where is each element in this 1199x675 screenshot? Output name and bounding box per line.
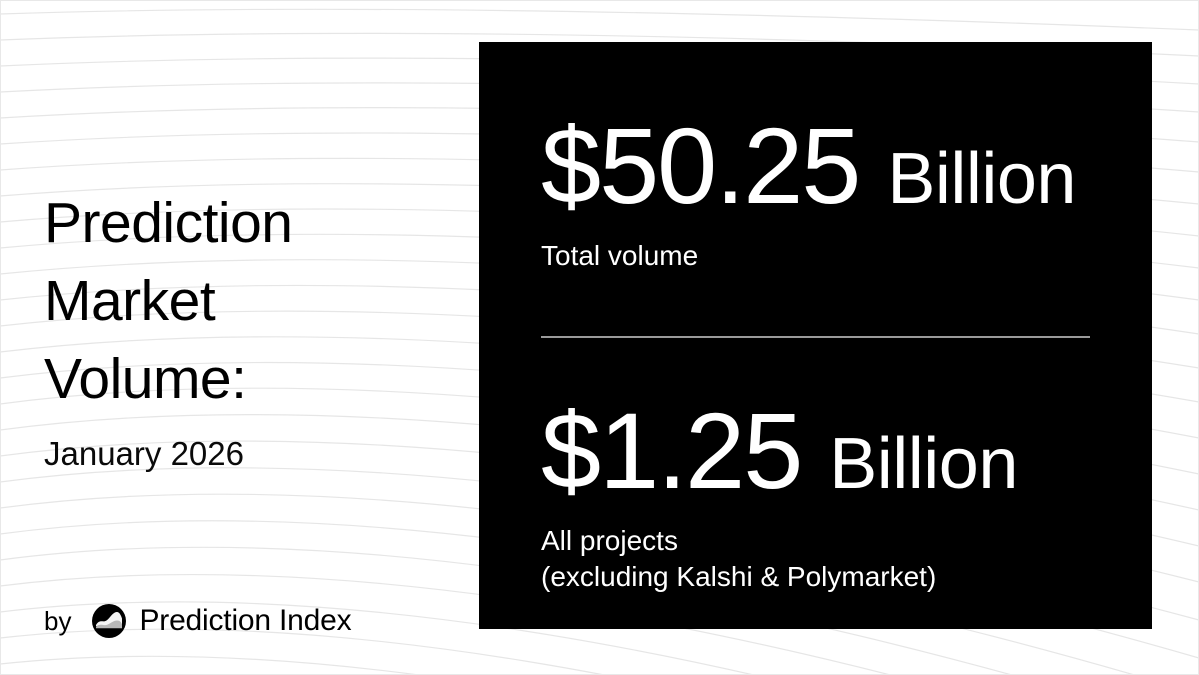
stat-value-row: $50.25 Billion [541, 112, 1090, 220]
page-subtitle: January 2026 [44, 418, 464, 474]
brand-by-label: by [44, 608, 71, 634]
infographic-canvas: Prediction Market Volume: January 2026 b… [0, 0, 1199, 675]
stats-divider [541, 336, 1090, 338]
title-column: Prediction Market Volume: January 2026 [44, 184, 464, 474]
stat-caption-all-projects: All projects (excluding Kalshi & Polymar… [541, 505, 1090, 595]
stat-unit-total-volume: Billion [887, 143, 1076, 215]
stat-value-row: $1.25 Billion [541, 397, 1090, 505]
stats-panel: $50.25 Billion Total volume $1.25 Billio… [479, 42, 1152, 629]
brand-name-label: Prediction Index [139, 606, 351, 636]
brand-lockup: by Prediction Index [44, 600, 351, 642]
stat-caption-total-volume: Total volume [541, 220, 1090, 274]
stat-unit-all-projects: Billion [829, 428, 1018, 500]
stat-amount-total-volume: $50.25 [541, 112, 859, 220]
page-title: Prediction Market Volume: [44, 184, 464, 418]
stat-block-total-volume: $50.25 Billion Total volume [541, 112, 1090, 274]
stat-block-all-projects: $1.25 Billion All projects (excluding Ka… [541, 397, 1090, 595]
wave-circle-logo-icon [92, 604, 126, 638]
stat-amount-all-projects: $1.25 [541, 397, 801, 505]
